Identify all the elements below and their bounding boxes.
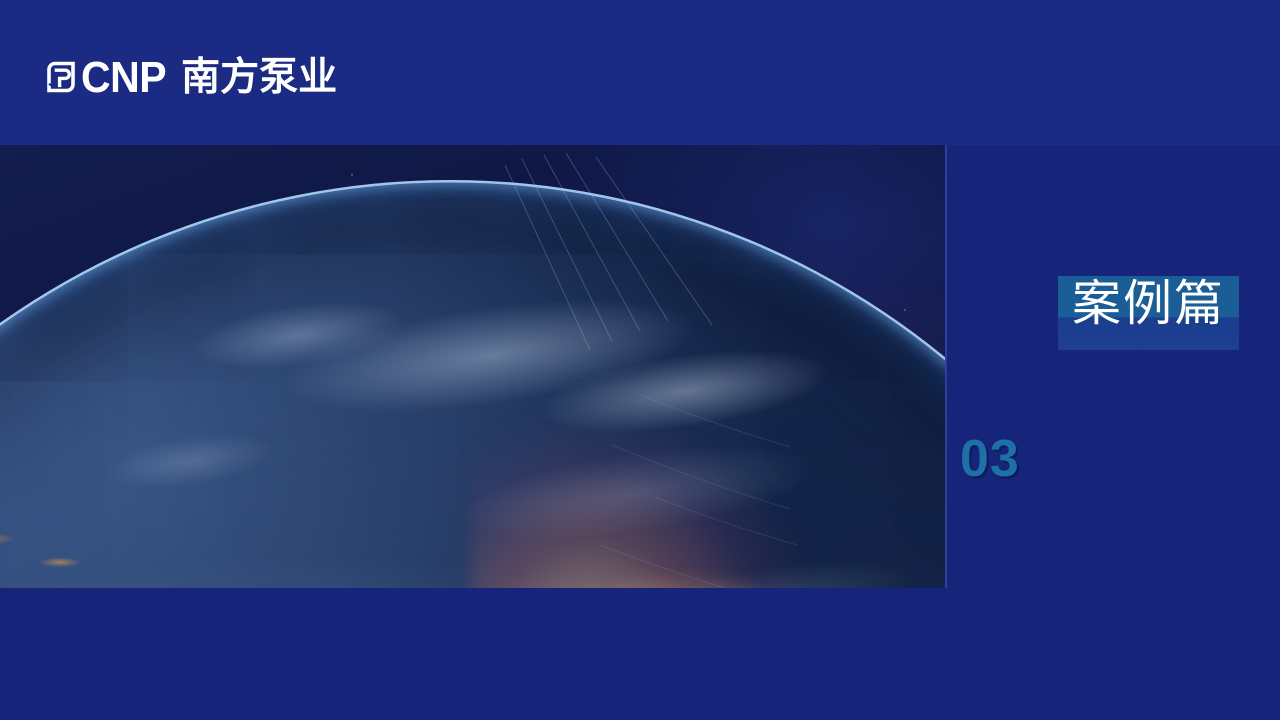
logo-wordmark-latin: CNP — [81, 55, 166, 98]
earth-image-panel — [0, 145, 947, 588]
presentation-slide: CNP 南方泵业 — [0, 0, 1280, 720]
slide-header: CNP 南方泵业 — [0, 0, 1280, 145]
section-title: 案例篇 — [1072, 277, 1225, 332]
cnp-logo: CNP 南方泵业 — [43, 53, 337, 101]
section-title-block: 03 案例篇 — [947, 145, 1280, 588]
logo-wordmark-chinese: 南方泵业 — [181, 58, 337, 97]
slide-footer: 节能泵王 绿色中国 — [0, 588, 1280, 720]
cnp-pump-mark-icon — [43, 59, 79, 95]
section-number: 03 — [960, 433, 1020, 485]
